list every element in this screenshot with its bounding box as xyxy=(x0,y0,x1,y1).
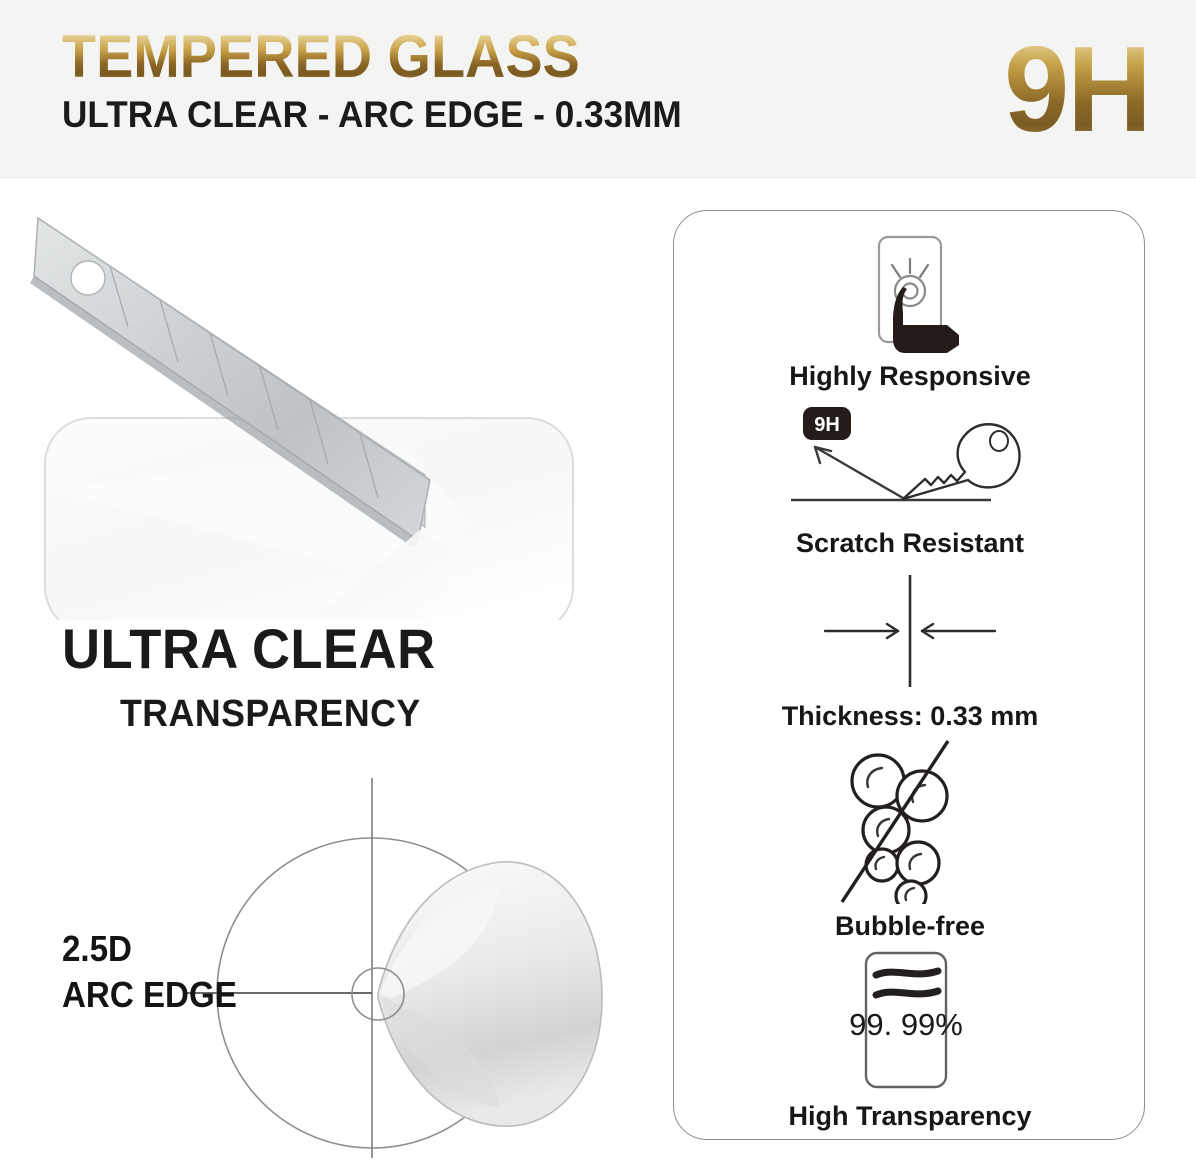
left-panel: ULTRA CLEAR TRANSPARENCY xyxy=(0,178,660,1161)
header-text-group: TEMPERED GLASS ULTRA CLEAR - ARC EDGE - … xyxy=(62,26,714,136)
page-subtitle: ULTRA CLEAR - ARC EDGE - 0.33MM xyxy=(62,94,682,136)
page-title: TEMPERED GLASS xyxy=(62,26,669,88)
feature-label-highly-responsive: Highly Responsive xyxy=(674,360,1146,392)
phone-transparency-icon: 99. 99% xyxy=(810,949,1010,1094)
key-scratch-icon: 9H xyxy=(775,401,1045,521)
feature-label-bubble-free: Bubble-free xyxy=(674,910,1146,942)
arc-edge-label-line2: ARC EDGE xyxy=(62,972,237,1018)
feature-label-high-transparency: High Transparency xyxy=(674,1100,1146,1132)
transparency-subhead: TRANSPARENCY xyxy=(120,692,590,736)
arc-edge-label-line1: 2.5D xyxy=(62,926,237,972)
ultra-clear-text-block: ULTRA CLEAR TRANSPARENCY xyxy=(0,618,620,736)
ultra-clear-headline: ULTRA CLEAR xyxy=(62,618,587,680)
touch-finger-phone-icon xyxy=(835,229,985,354)
feature-scratch-resistant: 9H Scratch Resistant xyxy=(674,401,1146,559)
header-banner: TEMPERED GLASS ULTRA CLEAR - ARC EDGE - … xyxy=(0,0,1196,178)
blade-glass-svg xyxy=(0,190,650,620)
bubbles-crossed-icon xyxy=(810,739,1010,904)
infographic-page: TEMPERED GLASS ULTRA CLEAR - ARC EDGE - … xyxy=(0,0,1196,1161)
blade-over-glass-illustration xyxy=(0,190,650,620)
arc-edge-diagram: 2.5D ARC EDGE xyxy=(0,758,660,1158)
hardness-badge-9h: 9H xyxy=(1004,18,1150,160)
arc-edge-label: 2.5D ARC EDGE xyxy=(62,926,237,1018)
feature-high-transparency: 99. 99% High Transparency xyxy=(674,949,1146,1132)
feature-label-scratch-resistant: Scratch Resistant xyxy=(674,527,1146,559)
feature-thickness: Thickness: 0.33 mm xyxy=(674,569,1146,732)
badge-9h-small: 9H xyxy=(803,407,851,440)
transparency-value: 99. 99% xyxy=(849,1007,963,1042)
feature-highly-responsive: Highly Responsive xyxy=(674,229,1146,392)
svg-text:9H: 9H xyxy=(814,414,840,436)
blade-hole xyxy=(71,261,105,295)
features-panel: Highly Responsive 9H xyxy=(673,210,1145,1140)
feature-bubble-free: Bubble-free xyxy=(674,739,1146,942)
feature-label-thickness: Thickness: 0.33 mm xyxy=(674,700,1146,732)
thickness-arrows-icon xyxy=(795,569,1025,694)
